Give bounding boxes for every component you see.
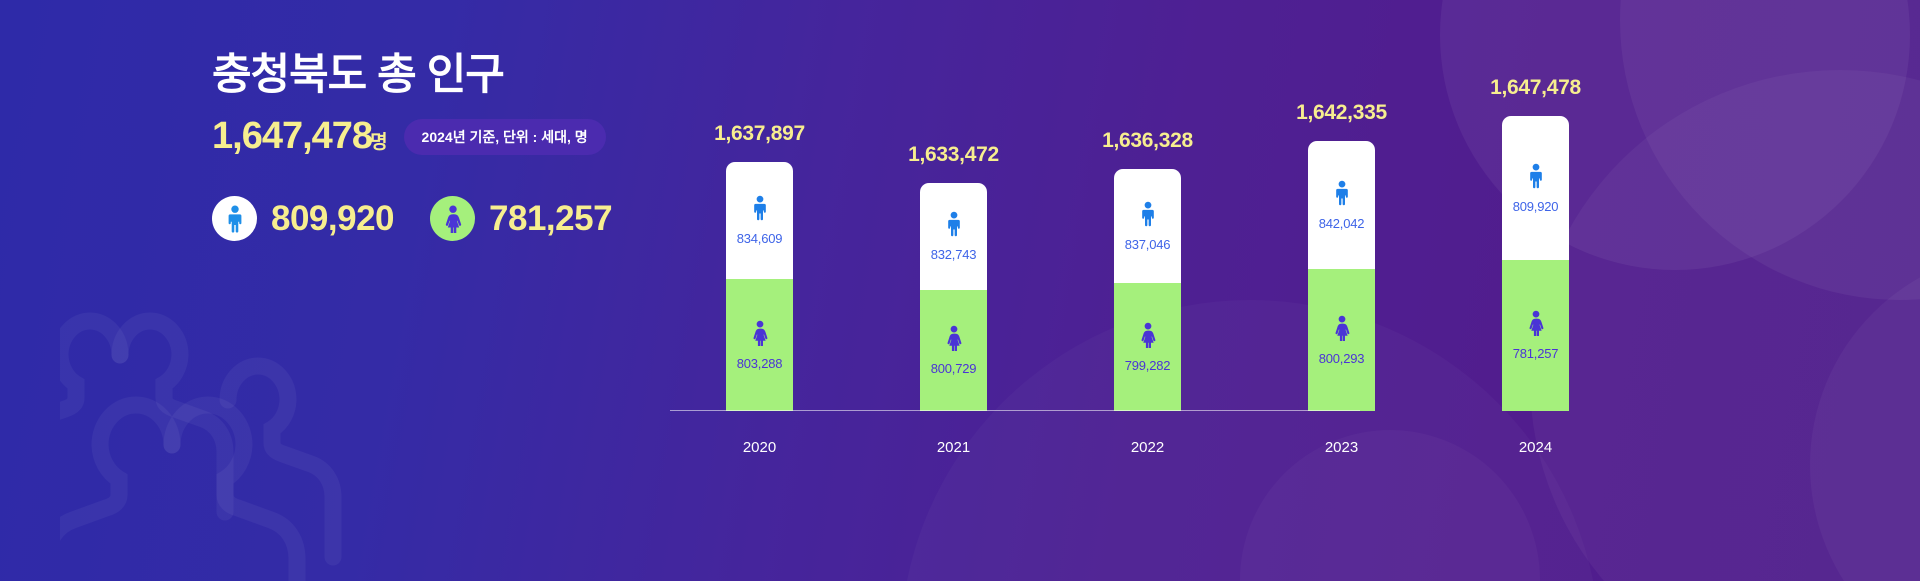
bar-segment-male-value: 809,920 (1513, 199, 1559, 214)
bar-segment-male[interactable]: 832,743 (920, 183, 987, 290)
bar-group-2021[interactable]: 1,633,472832,743800,7292021 (920, 183, 987, 411)
x-axis-label-2024: 2024 (1519, 439, 1552, 456)
x-axis-label-2022: 2022 (1131, 439, 1164, 456)
bar-segment-male-value: 834,609 (737, 231, 783, 246)
total-population-unit: 명 (370, 132, 387, 153)
bar-total-label: 1,647,478 (1490, 76, 1581, 100)
bar-stack[interactable]: 837,046799,282 (1114, 169, 1181, 411)
male-icon (224, 205, 246, 233)
bar-segment-male-value: 832,743 (931, 247, 977, 262)
female-legend-circle (430, 196, 475, 241)
bar-total-label: 1,636,328 (1102, 129, 1193, 153)
total-population-value: 1,647,478 (212, 115, 372, 157)
bar-segment-female-value: 803,288 (737, 356, 783, 371)
female-icon-wrap (944, 325, 964, 356)
bar-segment-female[interactable]: 800,729 (920, 290, 987, 411)
female-icon-wrap (1332, 315, 1352, 346)
chart-axis-line (670, 410, 1360, 411)
male-icon (1526, 163, 1546, 189)
bar-stack[interactable]: 834,609803,288 (726, 162, 793, 411)
male-legend-circle (212, 196, 257, 241)
bar-total-label: 1,642,335 (1296, 101, 1387, 125)
bar-group-2020[interactable]: 1,637,897834,609803,2882020 (726, 162, 793, 411)
bar-segment-female[interactable]: 799,282 (1114, 283, 1181, 411)
female-icon-wrap (1138, 322, 1158, 353)
bar-segment-male[interactable]: 834,609 (726, 162, 793, 279)
bar-segment-male-value: 837,046 (1125, 237, 1171, 252)
chart-plot-area: 1,637,897834,609803,28820201,633,472832,… (668, 0, 1368, 581)
female-icon-wrap (750, 320, 770, 351)
x-axis-label-2023: 2023 (1325, 439, 1358, 456)
bar-segment-female-value: 781,257 (1513, 346, 1559, 361)
legend-item-female: 781,257 (430, 196, 612, 241)
male-icon-wrap (944, 211, 964, 242)
male-legend-value: 809,920 (271, 199, 394, 239)
female-icon-wrap (1526, 310, 1546, 341)
note-badge: 2024년 기준, 단위 : 세대, 명 (404, 119, 606, 155)
bar-stack[interactable]: 832,743800,729 (920, 183, 987, 411)
bar-segment-male-value: 842,042 (1319, 216, 1365, 231)
x-axis-label-2021: 2021 (937, 439, 970, 456)
female-legend-value: 781,257 (489, 199, 612, 239)
female-icon (1138, 322, 1158, 348)
male-icon (750, 195, 770, 221)
bar-total-label: 1,633,472 (908, 143, 999, 167)
bar-segment-female-value: 800,729 (931, 361, 977, 376)
male-icon-wrap (750, 195, 770, 226)
male-icon (944, 211, 964, 237)
male-icon-wrap (1332, 180, 1352, 211)
bar-segment-male[interactable]: 842,042 (1308, 141, 1375, 269)
female-icon (944, 325, 964, 351)
male-icon (1332, 180, 1352, 206)
x-axis-label-2020: 2020 (743, 439, 776, 456)
bar-segment-female[interactable]: 800,293 (1308, 269, 1375, 411)
bar-total-label: 1,637,897 (714, 122, 805, 146)
bar-segment-male[interactable]: 809,920 (1502, 116, 1569, 260)
male-icon (1138, 201, 1158, 227)
legend-item-male: 809,920 (212, 196, 394, 241)
male-icon-wrap (1526, 163, 1546, 194)
bar-stack[interactable]: 842,042800,293 (1308, 141, 1375, 411)
female-icon (750, 320, 770, 346)
bar-group-2022[interactable]: 1,636,328837,046799,2822022 (1114, 169, 1181, 411)
bar-stack[interactable]: 809,920781,257 (1502, 116, 1569, 411)
population-bar-chart: 1,637,897834,609803,28820201,633,472832,… (668, 0, 1368, 581)
bar-segment-female[interactable]: 781,257 (1502, 260, 1569, 411)
bar-group-2024[interactable]: 1,647,478809,920781,2572024 (1502, 116, 1569, 411)
bar-segment-female[interactable]: 803,288 (726, 279, 793, 411)
female-icon (442, 205, 464, 233)
bar-segment-female-value: 800,293 (1319, 351, 1365, 366)
male-icon-wrap (1138, 201, 1158, 232)
people-silhouette-icon (60, 250, 400, 581)
female-icon (1332, 315, 1352, 341)
total-population: 1,647,478명 (212, 115, 388, 158)
bar-group-2023[interactable]: 1,642,335842,042800,2932023 (1308, 141, 1375, 411)
female-icon (1526, 310, 1546, 336)
bar-segment-female-value: 799,282 (1125, 358, 1171, 373)
bar-segment-male[interactable]: 837,046 (1114, 169, 1181, 283)
